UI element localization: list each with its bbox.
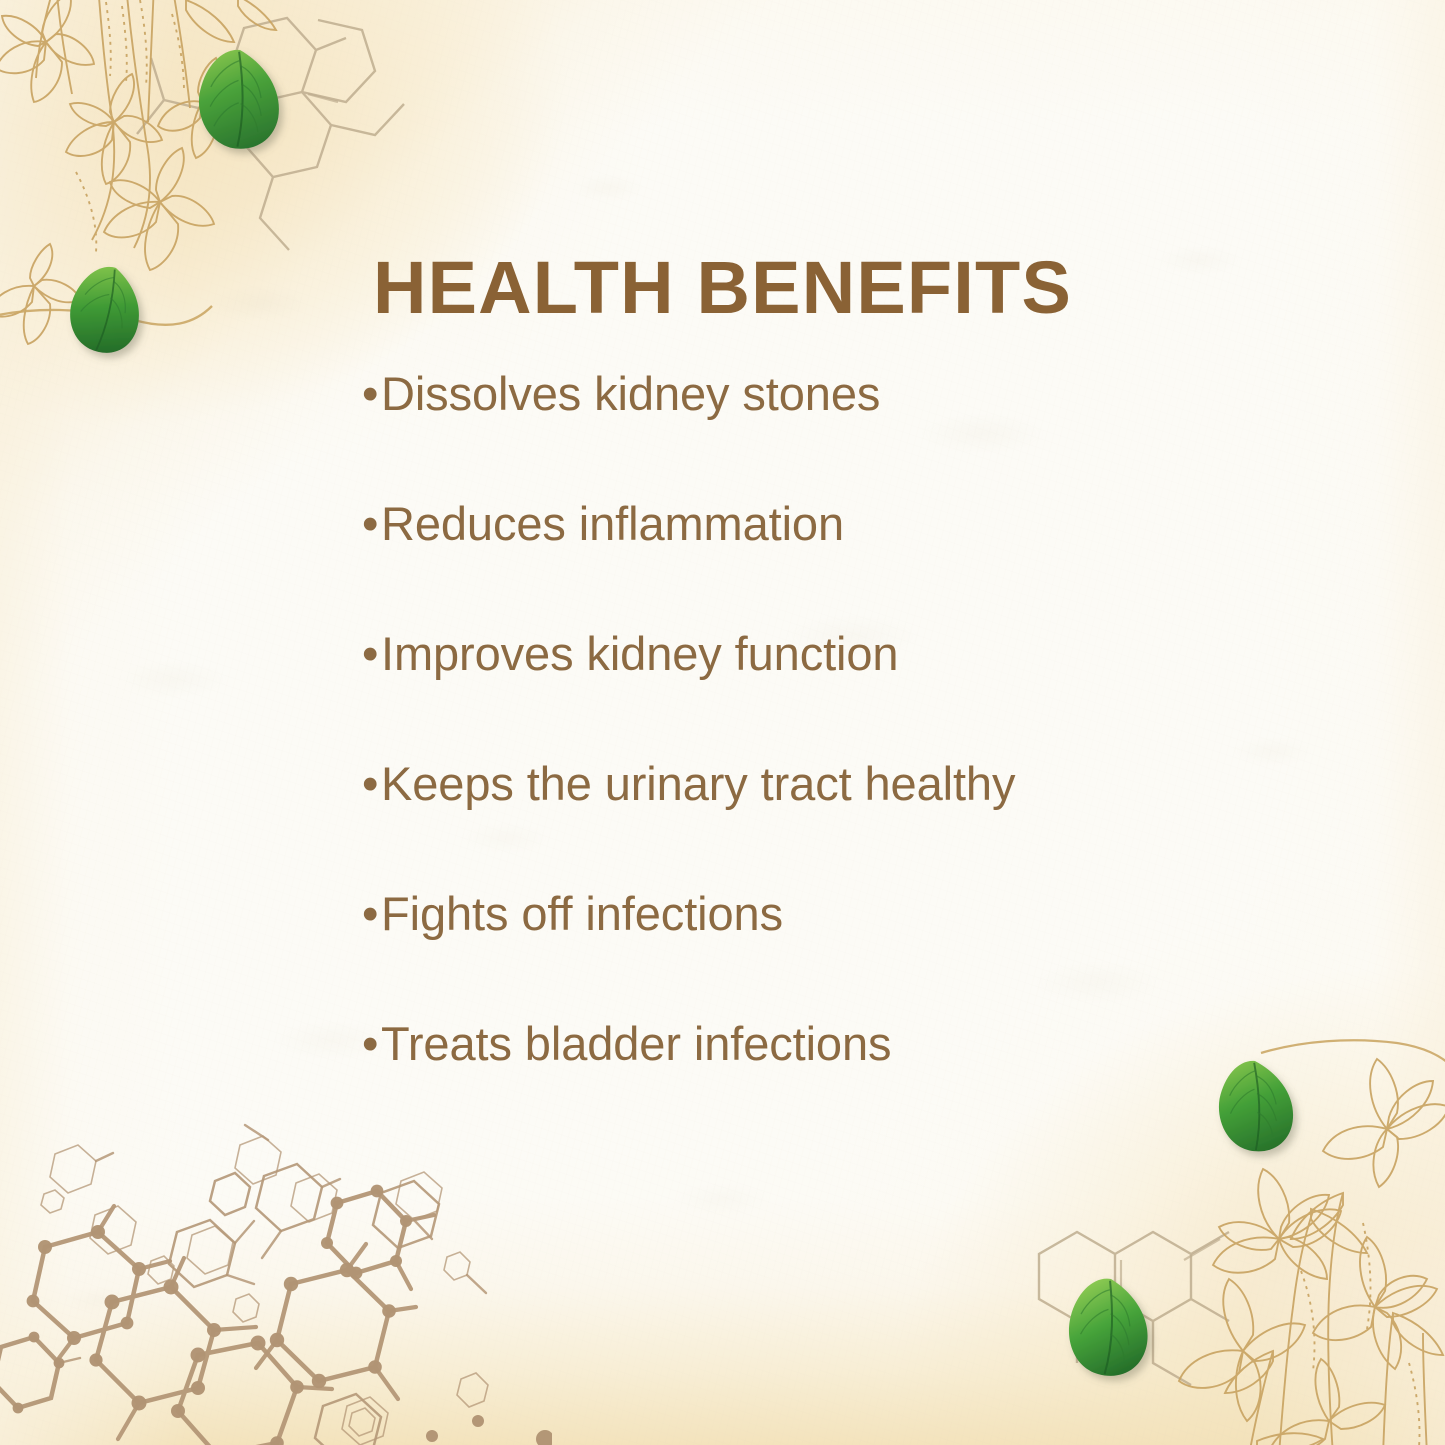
list-item-label: Fights off infections (381, 885, 783, 943)
benefits-list: • Dissolves kidney stones • Reduces infl… (362, 365, 1362, 1145)
bullet-icon: • (362, 625, 381, 683)
list-item: • Fights off infections (362, 885, 1362, 1015)
list-item-label: Reduces inflammation (381, 495, 844, 553)
list-item: • Reduces inflammation (362, 495, 1362, 625)
list-item-label: Keeps the urinary tract healthy (381, 755, 1015, 813)
list-item: • Treats bladder infections (362, 1015, 1362, 1145)
list-item: • Improves kidney function (362, 625, 1362, 755)
list-item: • Keeps the urinary tract healthy (362, 755, 1362, 885)
poster-content: HEALTH BENEFITS • Dissolves kidney stone… (0, 0, 1445, 1445)
health-benefits-poster: HEALTH BENEFITS • Dissolves kidney stone… (0, 0, 1445, 1445)
list-item: • Dissolves kidney stones (362, 365, 1362, 495)
page-title: HEALTH BENEFITS (0, 245, 1445, 330)
bullet-icon: • (362, 885, 381, 943)
bullet-icon: • (362, 1015, 381, 1073)
bullet-icon: • (362, 755, 381, 813)
list-item-label: Improves kidney function (381, 625, 898, 683)
bullet-icon: • (362, 365, 381, 423)
list-item-label: Treats bladder infections (381, 1015, 891, 1073)
list-item-label: Dissolves kidney stones (381, 365, 880, 423)
bullet-icon: • (362, 495, 381, 553)
